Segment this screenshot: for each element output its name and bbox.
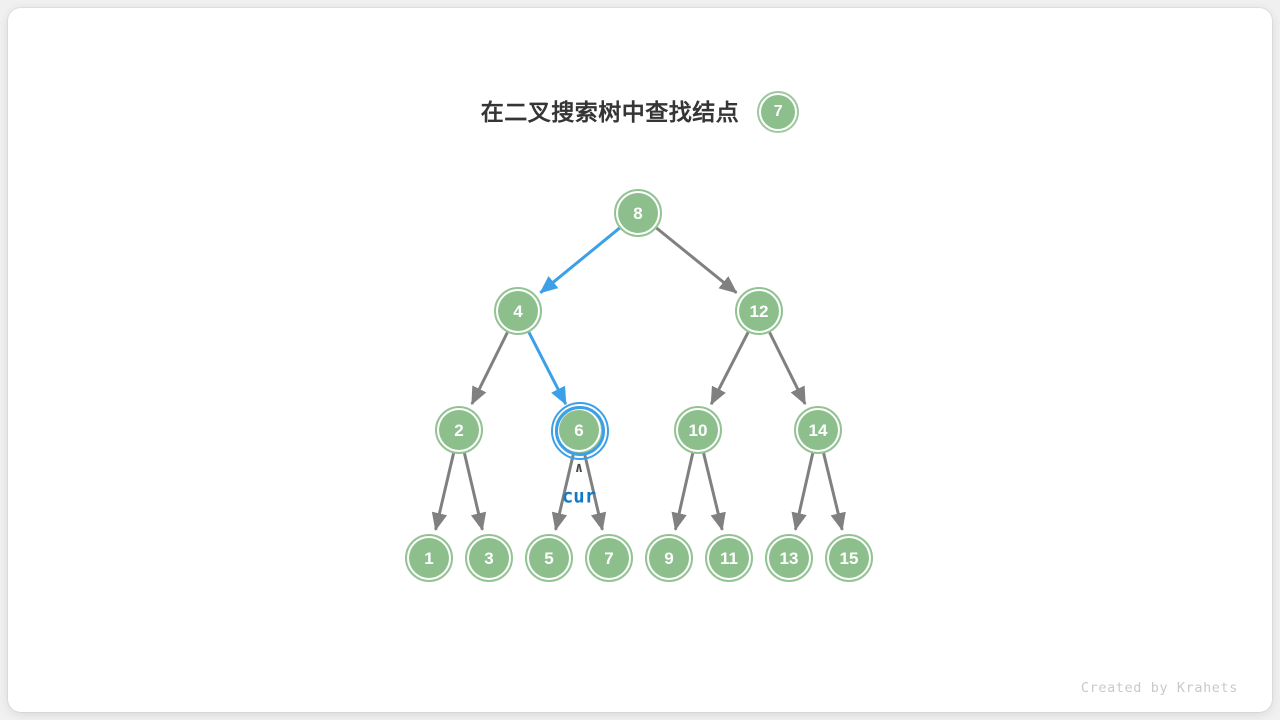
tree-edge-14-to-13	[795, 452, 813, 529]
tree-node-6[interactable]: 6	[555, 406, 603, 454]
node-value: 12	[739, 291, 779, 331]
tree-edge-14-to-15	[823, 452, 842, 529]
node-value: 14	[798, 410, 838, 450]
tree-edge-4-to-2	[472, 332, 508, 404]
tree-edge-12-to-14	[769, 332, 805, 404]
slide-title-row: 在二叉搜索树中查找结点 7	[0, 92, 1280, 132]
tree-node-13[interactable]: 13	[765, 534, 813, 582]
tree-edge-8-to-4	[540, 228, 620, 293]
diagram-root: 在二叉搜索树中查找结点 7 841226101413579111315 ∧ cu…	[0, 0, 1280, 720]
tree-edge-2-to-3	[464, 452, 482, 529]
page-title: 在二叉搜索树中查找结点	[481, 101, 740, 124]
tree-node-12[interactable]: 12	[735, 287, 783, 335]
tree-node-10[interactable]: 10	[674, 406, 722, 454]
tree-node-4[interactable]: 4	[494, 287, 542, 335]
tree-node-7[interactable]: 7	[585, 534, 633, 582]
badge-value: 7	[761, 95, 795, 129]
node-value: 15	[829, 538, 869, 578]
tree-node-2[interactable]: 2	[435, 406, 483, 454]
node-value: 4	[498, 291, 538, 331]
tree-node-15[interactable]: 15	[825, 534, 873, 582]
node-value: 11	[709, 538, 749, 578]
tree-node-9[interactable]: 9	[645, 534, 693, 582]
tree-node-8[interactable]: 8	[614, 189, 662, 237]
tree-edge-10-to-11	[703, 452, 722, 529]
tree-edge-10-to-9	[675, 452, 693, 529]
node-value: 13	[769, 538, 809, 578]
node-value: 10	[678, 410, 718, 450]
node-value: 5	[529, 538, 569, 578]
tree-node-11[interactable]: 11	[705, 534, 753, 582]
node-value: 9	[649, 538, 689, 578]
target-value-badge: 7	[757, 91, 799, 133]
node-value: 8	[618, 193, 658, 233]
cur-pointer-label: cur	[562, 488, 596, 507]
node-value: 7	[589, 538, 629, 578]
tree-node-5[interactable]: 5	[525, 534, 573, 582]
node-value: 2	[439, 410, 479, 450]
tree-edge-2-to-1	[436, 452, 454, 529]
node-value: 6	[559, 410, 599, 450]
tree-edge-8-to-12	[656, 227, 737, 292]
node-value: 3	[469, 538, 509, 578]
tree-node-14[interactable]: 14	[794, 406, 842, 454]
node-value: 1	[409, 538, 449, 578]
tree-edge-12-to-10	[711, 331, 748, 404]
cur-pointer-caret: ∧	[575, 461, 583, 475]
tree-node-1[interactable]: 1	[405, 534, 453, 582]
tree-node-3[interactable]: 3	[465, 534, 513, 582]
tree-edge-4-to-6	[528, 331, 565, 404]
credit-text: Created by Krahets	[1081, 680, 1238, 696]
